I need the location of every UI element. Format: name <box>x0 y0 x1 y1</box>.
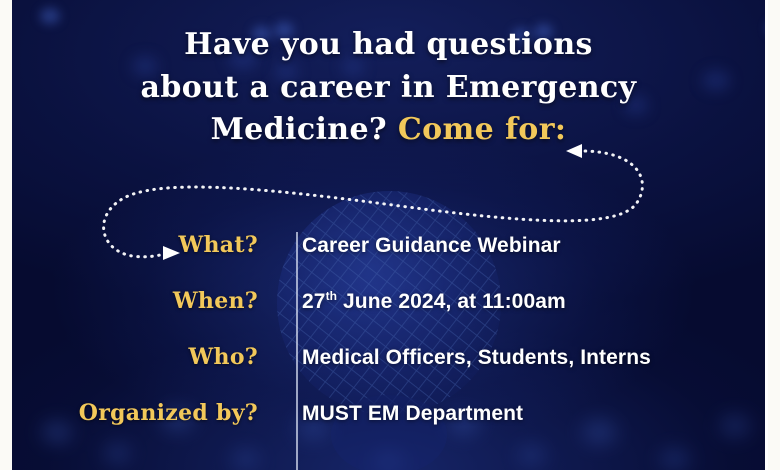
detail-row-what: What? Career Guidance Webinar <box>12 232 765 288</box>
webinar-poster: Have you had questions about a career in… <box>0 0 780 470</box>
detail-value-when: 27th June 2024, at 11:00am <box>280 289 566 314</box>
headline-line-3-plain: Medicine? <box>211 112 398 147</box>
details-table: What? Career Guidance Webinar When? 27th… <box>12 232 765 456</box>
detail-value-when-day: 27 <box>302 290 326 313</box>
page-margin-left <box>0 0 12 470</box>
detail-row-when: When? 27th June 2024, at 11:00am <box>12 288 765 344</box>
detail-row-organized-by: Organized by? MUST EM Department <box>12 400 765 456</box>
headline-line-1: Have you had questions <box>12 24 765 67</box>
headline-line-3: Medicine? Come for: <box>12 109 765 152</box>
detail-label-when: When? <box>12 288 280 314</box>
detail-value-organized-by: MUST EM Department <box>280 402 523 426</box>
detail-value-when-rest: June 2024, at 11:00am <box>337 290 566 313</box>
detail-label-organized-by: Organized by? <box>12 400 280 426</box>
detail-value-what: Career Guidance Webinar <box>280 234 561 258</box>
headline-line-2: about a career in Emergency <box>12 67 765 110</box>
bokeh-light <box>40 8 60 24</box>
detail-value-when-ordinal: th <box>326 289 338 303</box>
detail-row-who: Who? Medical Officers, Students, Interns <box>12 344 765 400</box>
detail-label-what: What? <box>12 232 280 258</box>
headline-call-to-action: Come for: <box>398 112 567 147</box>
page-margin-right <box>768 0 780 470</box>
details-divider <box>296 232 298 470</box>
poster-headline: Have you had questions about a career in… <box>12 24 765 152</box>
detail-label-who: Who? <box>12 344 280 370</box>
detail-value-who: Medical Officers, Students, Interns <box>280 346 651 370</box>
